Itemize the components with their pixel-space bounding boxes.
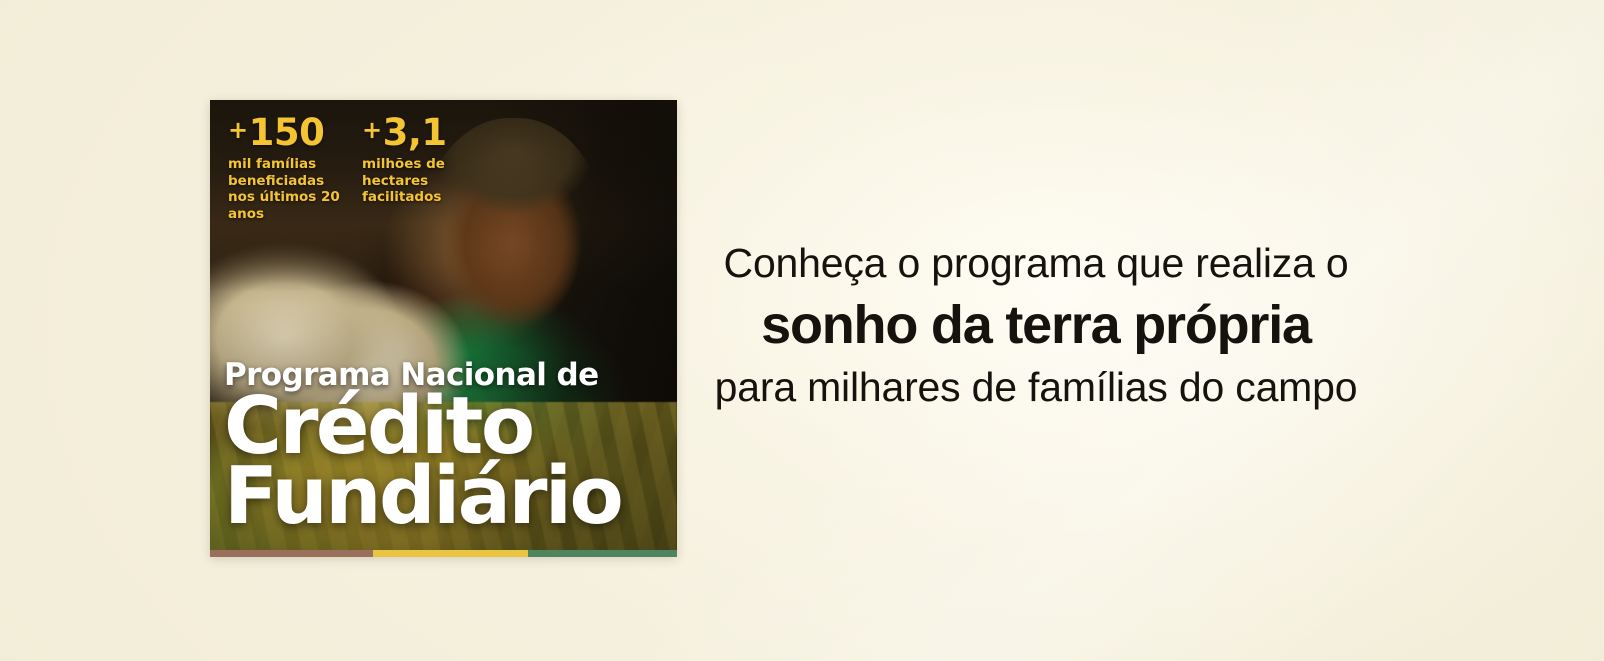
banner-root: +150 mil famílias beneficiadas nos últim… [0,0,1604,661]
stat-value-familias: 150 [249,111,325,154]
stat-number-familias: +150 [228,114,340,151]
stat-prefix-icon: + [228,116,248,144]
stat-number-hectares: +3,1 [362,114,474,151]
programa-cover-card[interactable]: +150 mil famílias beneficiadas nos últim… [210,100,677,557]
headline-line-3: para milhares de famílias do campo [700,362,1372,414]
stat-value-hectares: 3,1 [383,111,447,154]
color-bar-segment-green [528,550,677,557]
cover-stats: +150 mil famílias beneficiadas nos últim… [228,114,474,223]
stat-item-familias: +150 mil famílias beneficiadas nos últim… [228,114,340,223]
cover-title-block: Programa Nacional de Crédito Fundiário [224,360,669,535]
stat-caption-hectares: milhões de hectares facilitados [362,156,474,206]
headline-line-1: Conheça o programa que realiza o [700,238,1372,290]
stat-caption-familias: mil famílias beneficiadas nos últimos 20… [228,156,340,223]
banner-content: +150 mil famílias beneficiadas nos últim… [0,0,1604,661]
stat-item-hectares: +3,1 milhões de hectares facilitados [362,114,474,223]
headline-block: Conheça o programa que realiza o sonho d… [700,238,1372,413]
headline-line-2-emphasis: sonho da terra própria [700,293,1372,359]
color-bar-segment-brown [210,550,373,557]
cover-title-line-2: Fundiário [224,459,669,535]
cover-color-bar [210,550,677,557]
cover-title-main: Crédito Fundiário [224,389,669,535]
stat-prefix-icon: + [362,116,382,144]
color-bar-segment-yellow [373,550,527,557]
